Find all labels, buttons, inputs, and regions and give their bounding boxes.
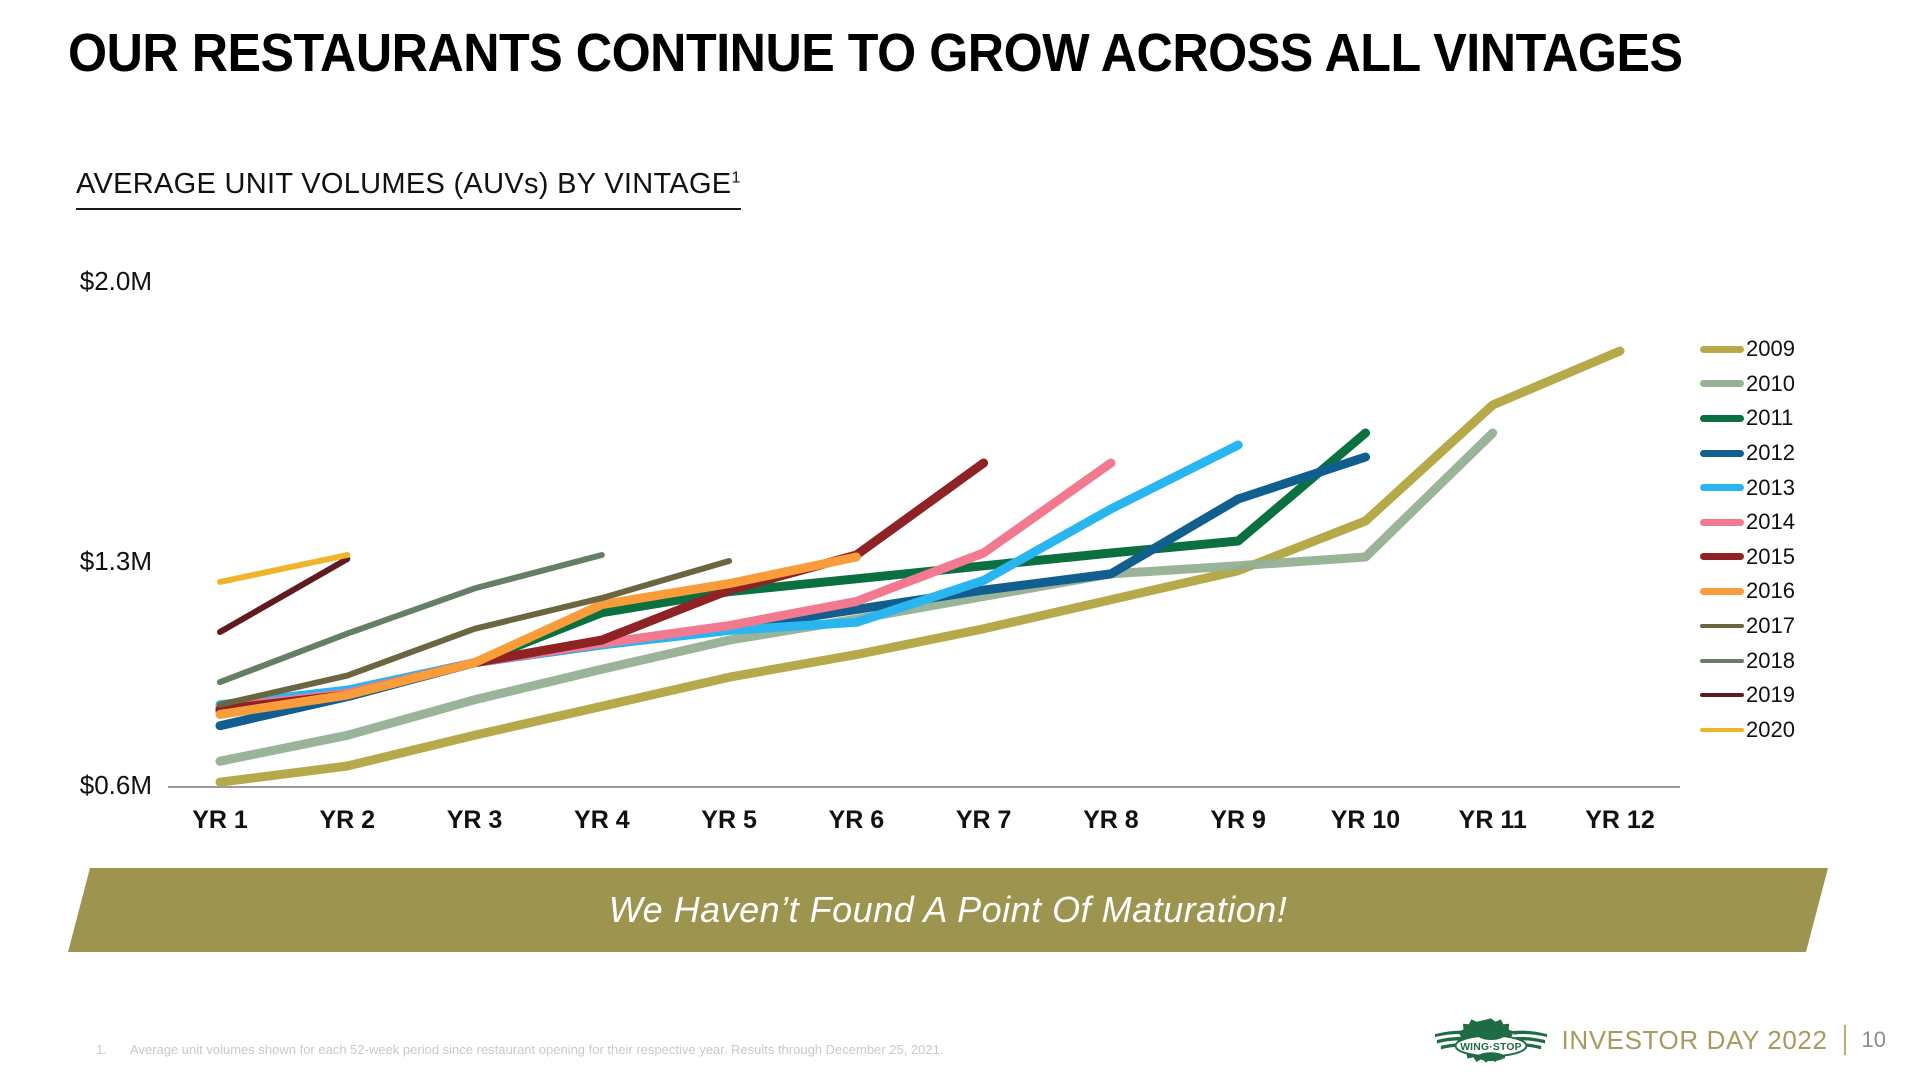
legend-label: 2013 — [1746, 477, 1795, 499]
legend-label: 2011 — [1746, 407, 1793, 429]
legend-label: 2017 — [1746, 615, 1795, 637]
legend-swatch-icon — [1700, 484, 1744, 491]
legend-label: 2018 — [1746, 650, 1795, 672]
legend-item-2019[interactable]: 2019 — [1700, 678, 1890, 713]
series-line-2018 — [220, 555, 602, 682]
legend-label: 2016 — [1746, 580, 1795, 602]
x-axis-tick-label: YR 10 — [1305, 806, 1425, 835]
legend-swatch-icon — [1700, 659, 1744, 663]
legend-swatch-icon — [1700, 728, 1744, 732]
legend-swatch-icon — [1700, 624, 1744, 628]
legend-item-2018[interactable]: 2018 — [1700, 643, 1890, 678]
chart-legend: 2009201020112012201320142015201620172018… — [1700, 332, 1890, 747]
legend-item-2012[interactable]: 2012 — [1700, 436, 1890, 471]
x-axis-tick-label: YR 2 — [287, 806, 407, 835]
legend-item-2009[interactable]: 2009 — [1700, 332, 1890, 367]
x-axis-tick-label: YR 8 — [1051, 806, 1171, 835]
legend-swatch-icon — [1700, 415, 1744, 422]
callout-banner-text: We Haven’t Found A Point Of Maturation! — [68, 868, 1828, 952]
legend-swatch-icon — [1700, 450, 1744, 457]
line-chart-plot — [168, 258, 1680, 794]
legend-item-2011[interactable]: 2011 — [1700, 401, 1890, 436]
chart-svg — [168, 258, 1680, 794]
legend-swatch-icon — [1700, 553, 1744, 560]
legend-item-2014[interactable]: 2014 — [1700, 505, 1890, 540]
legend-item-2016[interactable]: 2016 — [1700, 574, 1890, 609]
x-axis-tick-label: YR 9 — [1178, 806, 1298, 835]
x-axis-tick-label: YR 11 — [1433, 806, 1553, 835]
investor-day-label: INVESTOR DAY 2022 — [1562, 1025, 1828, 1056]
x-axis-tick-label: YR 7 — [924, 806, 1044, 835]
y-axis-tick-label: $1.3M — [42, 546, 152, 577]
legend-label: 2010 — [1746, 373, 1795, 395]
series-line-2009 — [220, 351, 1620, 782]
legend-swatch-icon — [1700, 693, 1744, 697]
slide-root: OUR RESTAURANTS CONTINUE TO GROW ACROSS … — [0, 0, 1920, 1080]
x-axis-tick-label: YR 5 — [669, 806, 789, 835]
chart-subtitle-text: AVERAGE UNIT VOLUMES (AUVs) BY VINTAGE — [76, 168, 731, 200]
x-axis-tick-label: YR 1 — [160, 806, 280, 835]
footer-divider — [1844, 1025, 1846, 1055]
x-axis-tick-label: YR 12 — [1560, 806, 1680, 835]
wingstop-logo-icon: WING·STOP — [1432, 1014, 1550, 1066]
legend-item-2015[interactable]: 2015 — [1700, 540, 1890, 575]
x-axis-tick-label: YR 4 — [542, 806, 662, 835]
svg-text:WING·STOP: WING·STOP — [1460, 1042, 1522, 1053]
x-axis-line — [168, 786, 1680, 788]
legend-item-2013[interactable]: 2013 — [1700, 470, 1890, 505]
legend-item-2020[interactable]: 2020 — [1700, 713, 1890, 748]
footnote-text: Average unit volumes shown for each 52-w… — [130, 1042, 943, 1057]
chart-subtitle: AVERAGE UNIT VOLUMES (AUVs) BY VINTAGE1 — [76, 168, 741, 210]
x-axis-tick-label: YR 6 — [796, 806, 916, 835]
callout-banner: We Haven’t Found A Point Of Maturation! — [68, 868, 1828, 952]
legend-label: 2012 — [1746, 442, 1795, 464]
legend-label: 2015 — [1746, 546, 1795, 568]
legend-label: 2019 — [1746, 684, 1795, 706]
y-axis-tick-label: $2.0M — [42, 266, 152, 297]
legend-swatch-icon — [1700, 519, 1744, 526]
legend-swatch-icon — [1700, 346, 1744, 353]
legend-swatch-icon — [1700, 380, 1744, 387]
page-title: OUR RESTAURANTS CONTINUE TO GROW ACROSS … — [68, 22, 1683, 84]
legend-label: 2020 — [1746, 719, 1795, 741]
y-axis-tick-label: $0.6M — [42, 770, 152, 801]
x-axis-tick-label: YR 3 — [415, 806, 535, 835]
legend-swatch-icon — [1700, 588, 1744, 595]
footnote-number: 1. — [96, 1042, 130, 1057]
page-number: 10 — [1862, 1027, 1886, 1053]
legend-item-2017[interactable]: 2017 — [1700, 609, 1890, 644]
legend-label: 2009 — [1746, 338, 1795, 360]
legend-label: 2014 — [1746, 511, 1795, 533]
footer-brand: WING·STOP INVESTOR DAY 2022 10 — [1432, 1012, 1886, 1068]
legend-item-2010[interactable]: 2010 — [1700, 367, 1890, 402]
footnote: 1. Average unit volumes shown for each 5… — [96, 1042, 943, 1057]
footnote-marker: 1 — [731, 169, 740, 186]
